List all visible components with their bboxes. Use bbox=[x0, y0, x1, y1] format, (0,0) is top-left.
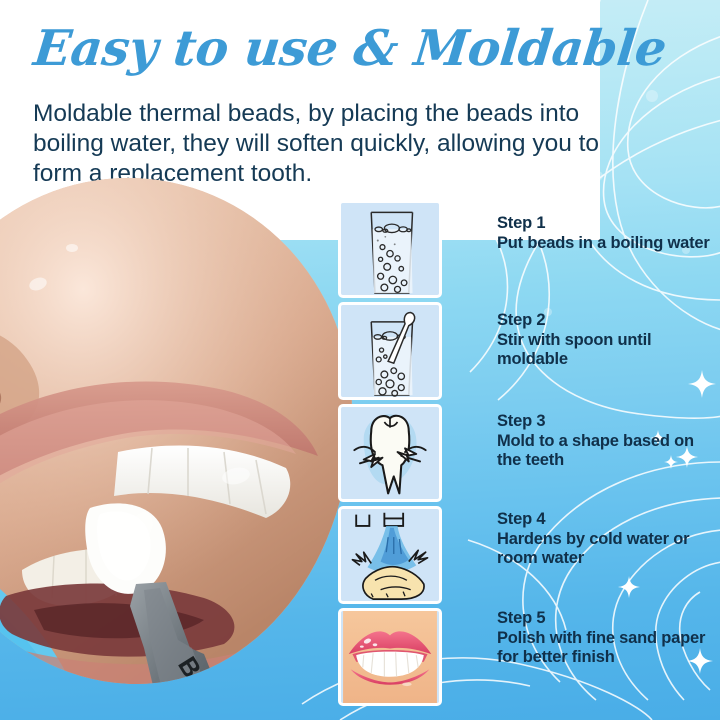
infographic-page: Easy to use & Moldable Moldable thermal … bbox=[0, 0, 720, 720]
step-description-2: Stir with spoon until moldable bbox=[497, 331, 720, 370]
step-description-4: Hardens by cold water or room water bbox=[497, 530, 720, 569]
step-thumbnail-stir-with-spoon[interactable] bbox=[338, 302, 442, 400]
step-thumbnail-list bbox=[338, 200, 442, 710]
step-number-2: Step 2 bbox=[497, 311, 720, 331]
step-item-3: Step 3 Mold to a shape based on the teet… bbox=[497, 412, 720, 471]
step-description-5: Polish with fine sand paper for better f… bbox=[497, 629, 720, 668]
page-title: Easy to use & Moldable bbox=[31, 24, 668, 73]
step-thumbnail-glass-of-boiling-water[interactable] bbox=[338, 200, 442, 298]
step-thumbnail-polished-smile[interactable] bbox=[338, 608, 442, 706]
step-item-4: Step 4 Hardens by cold water or room wat… bbox=[497, 510, 720, 569]
step-item-1: Step 1 Put beads in a boiling water bbox=[497, 214, 720, 253]
step-thumbnail-harden-cold-water[interactable] bbox=[338, 506, 442, 604]
step-description-1: Put beads in a boiling water bbox=[497, 234, 720, 254]
step-number-3: Step 3 bbox=[497, 412, 720, 432]
step-number-1: Step 1 bbox=[497, 214, 720, 234]
step-item-5: Step 5 Polish with fine sand paper for b… bbox=[497, 609, 720, 668]
step-thumbnail-mold-tooth[interactable] bbox=[338, 404, 442, 502]
step-number-5: Step 5 bbox=[497, 609, 720, 629]
step-item-2: Step 2 Stir with spoon until moldable bbox=[497, 311, 720, 370]
step-number-4: Step 4 bbox=[497, 510, 720, 530]
step-description-3: Mold to a shape based on the teeth bbox=[497, 432, 720, 471]
page-subtitle: Moldable thermal beads, by placing the b… bbox=[33, 99, 633, 189]
